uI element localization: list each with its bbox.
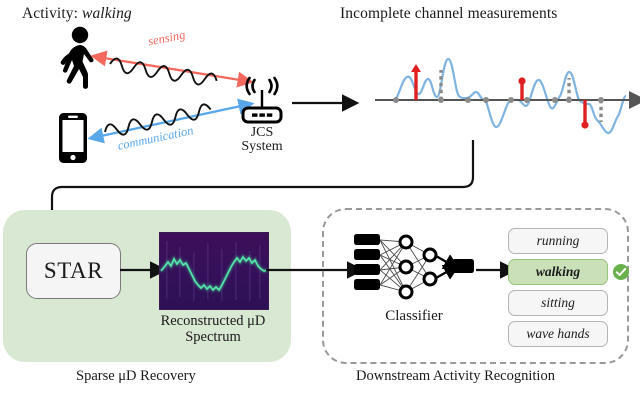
spectrum-caption-line1: Reconstructed μD	[147, 313, 279, 329]
channel-measurement-plot	[355, 34, 637, 142]
classifier-label: Classifier	[356, 308, 472, 325]
router-to-signal-arrow	[292, 92, 352, 114]
classifier-network-icon	[348, 231, 476, 303]
reconstructed-spectrum-image	[159, 232, 269, 310]
jcs-line1: JCS	[234, 126, 290, 140]
activity-option-walking[interactable]: walking	[508, 259, 608, 285]
activity-option-running[interactable]: running	[508, 228, 608, 254]
star-to-spectrum-arrow	[120, 261, 160, 279]
activity-label-list: running walking sitting wave hands	[508, 228, 630, 347]
spectrum-caption: Reconstructed μD Spectrum	[147, 313, 279, 345]
selected-check-icon	[612, 263, 630, 281]
activity-option-sitting[interactable]: sitting	[508, 290, 608, 316]
activity-title-label: Activity:	[22, 5, 78, 22]
sparse-recovery-caption: Sparse μD Recovery	[76, 368, 196, 385]
star-block-label: STAR	[44, 258, 103, 284]
spectrum-caption-line2: Spectrum	[147, 329, 279, 345]
activity-title: Activity: walking	[22, 5, 132, 23]
activity-title-value: walking	[82, 5, 132, 22]
activity-option-wave-hands[interactable]: wave hands	[508, 321, 608, 347]
classifier-to-labels-arrow	[476, 262, 510, 278]
figure-canvas: Activity: walking Incomplete channel mea…	[0, 0, 640, 402]
wifi-router-icon	[234, 78, 290, 126]
downstream-recognition-caption: Downstream Activity Recognition	[356, 368, 555, 385]
sensing-signal-arrow	[100, 40, 244, 94]
star-block[interactable]: STAR	[26, 243, 121, 299]
signal-plot-title: Incomplete channel measurements	[340, 5, 557, 23]
